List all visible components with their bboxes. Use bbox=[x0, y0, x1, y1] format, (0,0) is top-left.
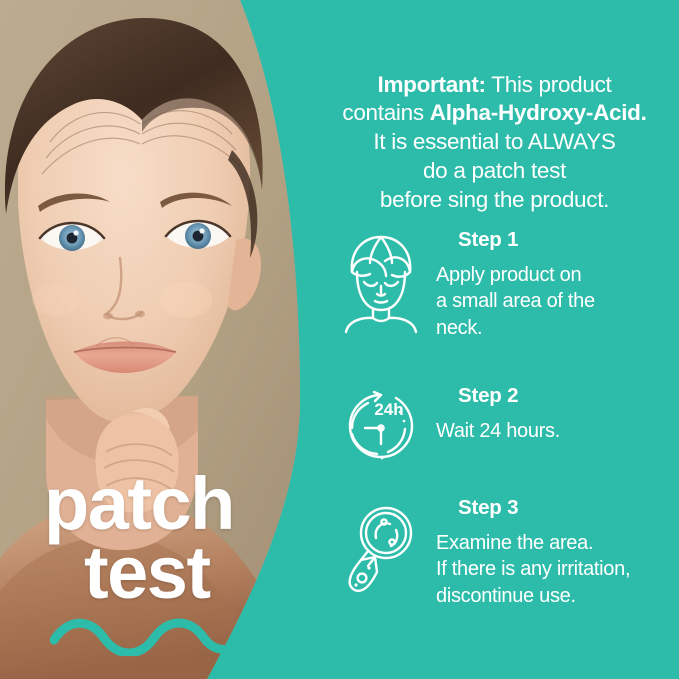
patch-test-poster: patch test Important: This product conta… bbox=[0, 0, 679, 679]
notice-bold-lead: Important: bbox=[378, 72, 486, 97]
step-1-body: Step 1 Apply product on a small area of … bbox=[424, 228, 679, 341]
instructions-panel: Important: This product contains Alpha-H… bbox=[310, 0, 679, 679]
notice-line-3: It is essential to ALWAYS bbox=[373, 129, 615, 154]
step-1-text-line-1: Apply product on bbox=[436, 264, 581, 286]
step-1-text: Apply product on a small area of the nec… bbox=[436, 262, 679, 341]
step-3-title: Step 3 bbox=[458, 496, 679, 520]
step-item-2: 24h Step 2 Wait 24 hours. bbox=[338, 384, 679, 462]
step-item-3: Step 3 Examine the area. If there is any… bbox=[338, 496, 679, 609]
clock-24h-icon: 24h bbox=[344, 388, 418, 462]
step-item-1: Step 1 Apply product on a small area of … bbox=[338, 228, 679, 341]
face-with-hair-towel-icon bbox=[340, 232, 422, 336]
notice-part-1: This product bbox=[486, 72, 612, 97]
step-3-text: Examine the area. If there is any irrita… bbox=[436, 530, 679, 609]
notice-ingredient: Alpha-Hydroxy-Acid. bbox=[430, 100, 647, 125]
notice-line-2-pre: contains bbox=[342, 100, 429, 125]
notice-line-4: do a patch test bbox=[423, 158, 566, 183]
step-2-text: Wait 24 hours. bbox=[436, 418, 679, 444]
model-photo bbox=[0, 0, 320, 679]
step-3-icon-wrap bbox=[338, 496, 424, 596]
clock-24h-label: 24h bbox=[374, 400, 403, 419]
notice-line-5: before sing the product. bbox=[380, 187, 609, 212]
step-3-text-line-2: If there is any irritation, bbox=[436, 558, 630, 580]
step-2-body: Step 2 Wait 24 hours. bbox=[424, 384, 679, 444]
step-1-icon-wrap bbox=[338, 228, 424, 336]
important-notice: Important: This product contains Alpha-H… bbox=[310, 71, 679, 215]
wavy-underline-icon bbox=[50, 612, 265, 656]
step-2-icon-wrap: 24h bbox=[338, 384, 424, 462]
step-2-title: Step 2 bbox=[458, 384, 679, 408]
step-3-body: Step 3 Examine the area. If there is any… bbox=[424, 496, 679, 609]
step-1-text-line-2: a small area of the bbox=[436, 290, 595, 312]
magnifying-glass-skin-icon bbox=[344, 500, 418, 596]
step-3-text-line-1: Examine the area. bbox=[436, 532, 593, 554]
step-3-text-line-3: discontinue use. bbox=[436, 585, 576, 607]
step-2-text-line-1: Wait 24 hours. bbox=[436, 420, 560, 442]
step-1-title: Step 1 bbox=[458, 228, 679, 252]
step-1-text-line-3: neck. bbox=[436, 317, 482, 339]
